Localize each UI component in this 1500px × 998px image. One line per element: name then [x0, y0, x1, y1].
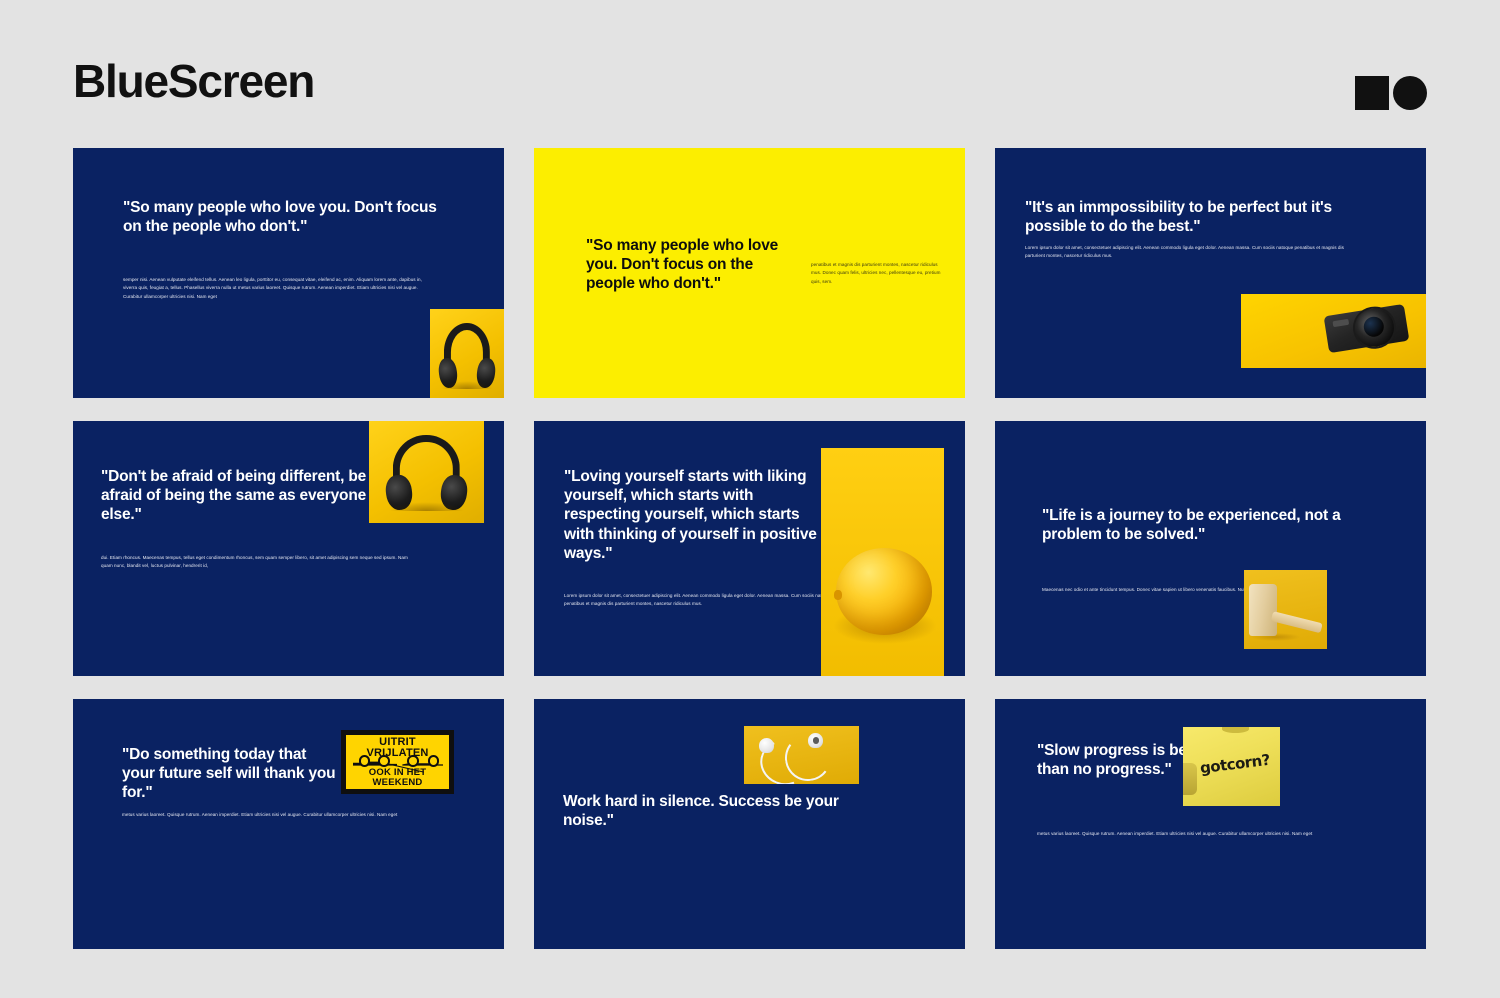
road-sign-photo: UITRIT VRIJLATEN OOK IN HET WEEKEND: [341, 730, 454, 794]
slide-grid: "So many people who love you. Don't focu…: [73, 148, 1427, 948]
square-icon: [1355, 76, 1389, 110]
slide-quote: "Don't be afraid of being different, be …: [101, 467, 369, 525]
slide-thumbnail-4[interactable]: "Don't be afraid of being different, be …: [73, 421, 504, 676]
slide-quote: "So many people who love you. Don't focu…: [123, 198, 443, 236]
slide-quote: "It's an immpossibility to be perfect bu…: [1025, 198, 1345, 236]
mallet-photo: [1244, 570, 1327, 649]
earbuds-photo: [744, 726, 859, 784]
slide-thumbnail-6[interactable]: "Life is a journey to be experienced, no…: [995, 421, 1426, 676]
slide-body-text: metus varius laoreet. Quisque rutrum. Ae…: [1037, 830, 1337, 838]
slide-thumbnail-9[interactable]: "Slow progress is better than no progres…: [995, 699, 1426, 949]
slide-body-text: penatibus et magnis dis parturient monte…: [811, 261, 943, 286]
slide-thumbnail-8[interactable]: Work hard in silence. Success be your no…: [534, 699, 965, 949]
slide-quote: "Loving yourself starts with liking your…: [564, 467, 826, 563]
page-title: BlueScreen: [73, 58, 1427, 104]
slide-body-text: Lorem ipsum dolor sit amet, consectetuer…: [564, 592, 836, 609]
sign-bottom-text: OOK IN HET WEEKEND: [349, 768, 446, 787]
slide-body-text: metus varius laoreet. Quisque rutrum. Ae…: [122, 811, 422, 819]
camera-photo: [1241, 294, 1426, 368]
slide-quote: Work hard in silence. Success be your no…: [563, 792, 863, 830]
circle-icon: [1393, 76, 1427, 110]
headphones-photo: [369, 421, 484, 523]
slide-thumbnail-7[interactable]: "Do something today that your future sel…: [73, 699, 504, 949]
slide-thumbnail-2[interactable]: "So many people who love you. Don't focu…: [534, 148, 965, 398]
slide-body-text: Lorem ipsum dolor sit amet, consectetuer…: [1025, 244, 1347, 261]
logo-mark: [1355, 76, 1427, 110]
slide-body-text: semper nisi. Aenean vulputate eleifend t…: [123, 276, 425, 301]
tow-truck-icon: [349, 760, 446, 767]
board-header: BlueScreen: [73, 58, 1427, 128]
slide-thumbnail-1[interactable]: "So many people who love you. Don't focu…: [73, 148, 504, 398]
slide-quote: "Do something today that your future sel…: [122, 745, 338, 803]
slide-thumbnail-5[interactable]: "Loving yourself starts with liking your…: [534, 421, 965, 676]
slide-body-text: dui. Etiam rhoncus. Maecenas tempus, tel…: [101, 554, 409, 571]
tshirt-photo: gotcorn?: [1183, 727, 1280, 806]
slide-quote: "So many people who love you. Don't focu…: [586, 236, 804, 294]
lemon-photo: [821, 448, 944, 676]
slide-thumbnail-3[interactable]: "It's an immpossibility to be perfect bu…: [995, 148, 1426, 398]
presentation-preview-board: BlueScreen "So many people who love you.…: [0, 0, 1500, 998]
slide-quote: "Life is a journey to be experienced, no…: [1042, 506, 1372, 544]
headphones-photo: [430, 309, 504, 398]
